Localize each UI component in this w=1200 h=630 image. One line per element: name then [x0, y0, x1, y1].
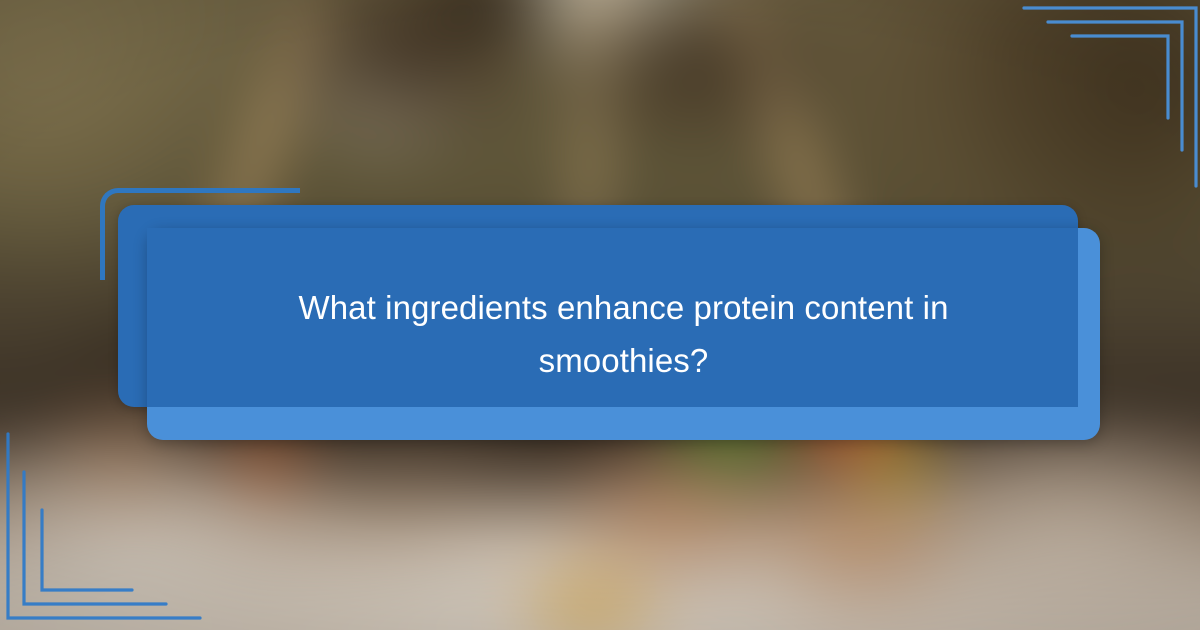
- question-title: What ingredients enhance protein content…: [257, 281, 990, 388]
- question-card: What ingredients enhance protein content…: [147, 228, 1100, 440]
- page-canvas: What ingredients enhance protein content…: [0, 0, 1200, 630]
